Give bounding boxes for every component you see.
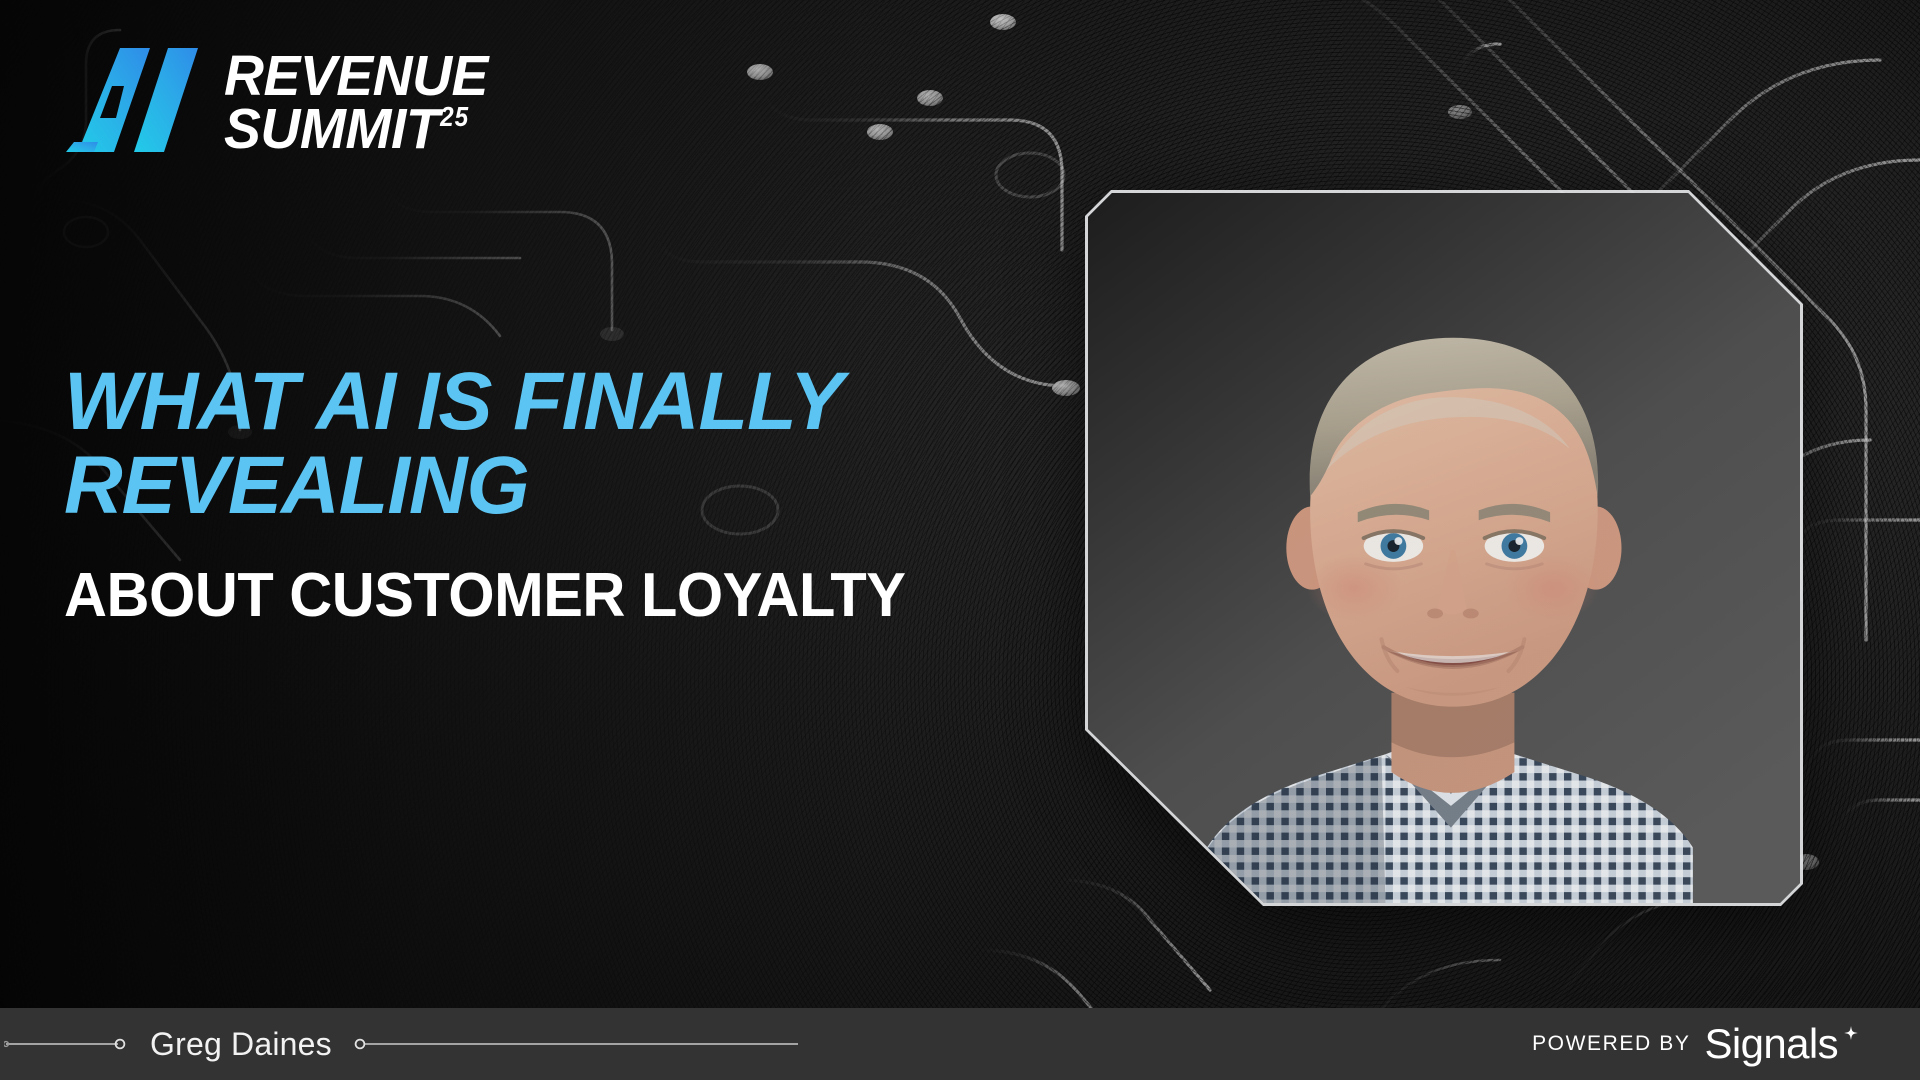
logo-line-revenue: REVENUE bbox=[224, 50, 488, 103]
logo-line-summit: SUMMIT 25 bbox=[224, 103, 488, 156]
speaker-credit: Greg Daines bbox=[4, 1026, 802, 1063]
speaker-headshot bbox=[1088, 193, 1800, 903]
headline-accent-line-1: WHAT AI IS FINALLY bbox=[64, 360, 935, 444]
headline-subline: ABOUT CUSTOMER LOYALTY bbox=[64, 563, 909, 628]
headline-accent-line-2: REVEALING bbox=[64, 444, 935, 528]
logo-ai-mark bbox=[64, 46, 210, 154]
session-headline: WHAT AI IS FINALLY REVEALING ABOUT CUSTO… bbox=[64, 360, 944, 628]
right-rule-icon bbox=[354, 1037, 802, 1051]
left-rule-icon bbox=[4, 1037, 128, 1051]
sparkle-icon bbox=[1840, 1025, 1862, 1052]
sponsor-branding: POWERED BY Signals bbox=[1532, 1023, 1862, 1065]
logo-summit-text: SUMMIT bbox=[224, 103, 439, 156]
powered-by-label: POWERED BY bbox=[1532, 1032, 1690, 1056]
logo-wordmark: REVENUE SUMMIT 25 bbox=[224, 50, 496, 156]
speaker-name: Greg Daines bbox=[128, 1026, 354, 1063]
slide-footer: Greg Daines POWERED BY Signals bbox=[0, 1008, 1920, 1080]
signals-wordmark: Signals bbox=[1704, 1023, 1838, 1065]
signals-logo: Signals bbox=[1704, 1023, 1862, 1065]
presentation-slide: REVENUE SUMMIT 25 WHAT AI IS FINALLY REV… bbox=[0, 0, 1920, 1080]
event-logo: REVENUE SUMMIT 25 bbox=[64, 46, 496, 156]
speaker-photo-frame bbox=[1085, 190, 1803, 906]
logo-year-25: 25 bbox=[440, 104, 469, 132]
